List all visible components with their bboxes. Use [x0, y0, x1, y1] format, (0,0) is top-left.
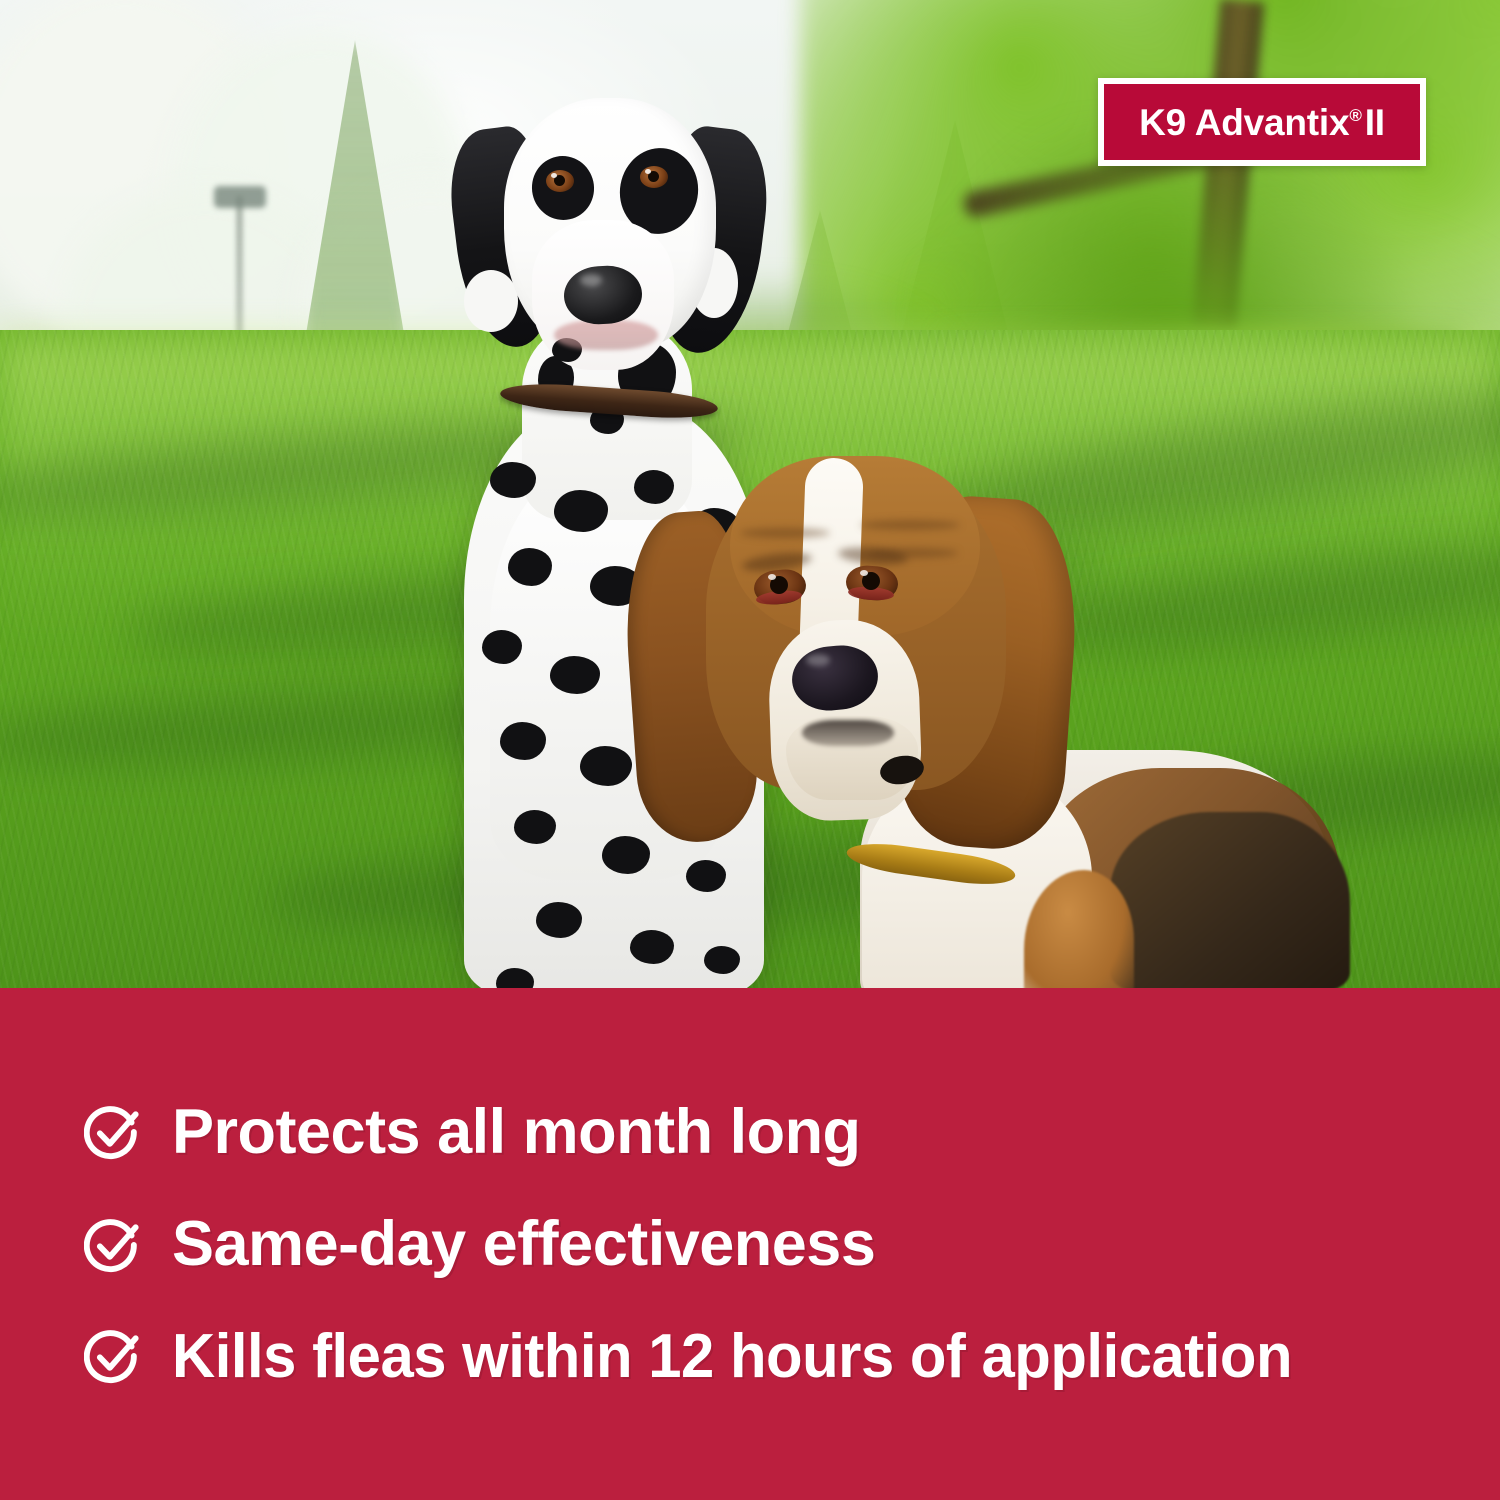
hero-photo: K9 Advantix®II: [0, 0, 1500, 988]
product-marketing-banner: K9 Advantix®II Protects all month long S…: [0, 0, 1500, 1500]
basset-lip: [802, 720, 894, 746]
basset-back-dark-marking: [1110, 812, 1350, 988]
dalmatian-eye-highlight: [551, 173, 557, 178]
lamp-post-head: [214, 186, 266, 208]
dalmatian-spot: [482, 630, 522, 664]
dalmatian-spot: [536, 902, 582, 938]
dalmatian-spot: [508, 548, 552, 586]
dalmatian-spot: [500, 722, 546, 760]
brand-name: K9 Advantix: [1139, 102, 1349, 143]
brand-version: II: [1365, 102, 1385, 143]
registered-trademark-icon: ®: [1349, 106, 1361, 125]
check-circle-icon: [84, 1216, 142, 1274]
dalmatian-eye-highlight: [645, 169, 651, 174]
basset-hound-dog: [610, 420, 1330, 988]
claim-text: Protects all month long: [172, 1100, 861, 1164]
claims-list: Protects all month long Same-day effecti…: [0, 988, 1500, 1500]
dalmatian-spot: [514, 810, 556, 844]
claim-item: Same-day effectiveness: [84, 1212, 1440, 1276]
claim-item: Kills fleas within 12 hours of applicati…: [84, 1325, 1440, 1388]
claim-item: Protects all month long: [84, 1100, 1440, 1164]
claim-text: Kills fleas within 12 hours of applicati…: [172, 1325, 1292, 1388]
dalmatian-spot: [490, 462, 536, 498]
dalmatian-lip: [554, 320, 658, 350]
brand-logo-text: K9 Advantix®II: [1139, 104, 1385, 141]
basset-eye-highlight: [860, 570, 868, 576]
dalmatian-ear-marking: [464, 270, 518, 332]
claims-band: Protects all month long Same-day effecti…: [0, 988, 1500, 1500]
brand-logo-plate: K9 Advantix®II: [1104, 84, 1420, 160]
dalmatian-spot: [554, 490, 608, 532]
dalmatian-spot: [550, 656, 600, 694]
basset-wrinkle: [740, 528, 830, 538]
basset-wrinkle: [860, 520, 960, 530]
claim-text: Same-day effectiveness: [172, 1212, 875, 1276]
check-circle-icon: [84, 1327, 142, 1385]
brand-logo: K9 Advantix®II: [1098, 78, 1426, 166]
basset-nose-highlight: [806, 654, 830, 666]
basset-eye-highlight: [768, 574, 776, 580]
check-circle-icon: [84, 1103, 142, 1161]
dalmatian-nose-highlight: [580, 274, 602, 286]
